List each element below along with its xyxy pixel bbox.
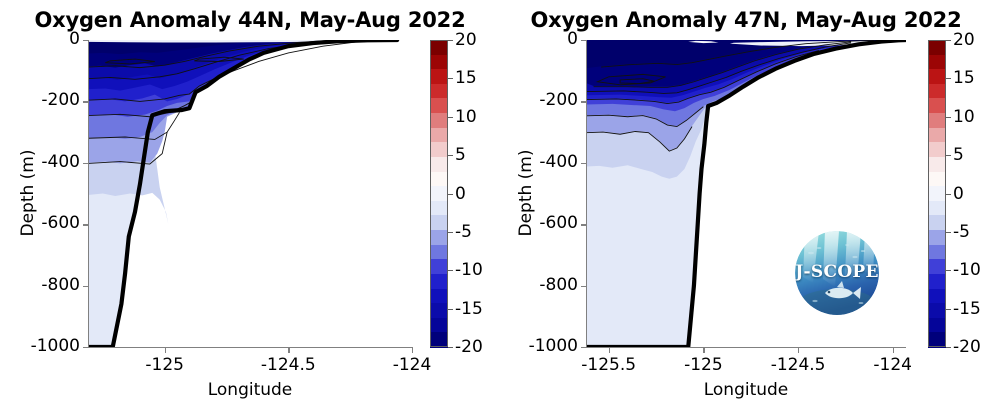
colorbar-frame (928, 40, 946, 347)
colorbar-tick-label: -5 (455, 222, 472, 242)
x-tick (893, 347, 894, 353)
colorbar-tick (448, 347, 453, 348)
x-axis-line (88, 347, 412, 348)
colorbar-tick (946, 270, 951, 271)
y-tick (581, 101, 586, 102)
y-tick (581, 163, 586, 164)
colorbar-tick (448, 78, 453, 79)
y-tick-label: 0 (6, 29, 80, 49)
y-axis-label: Depth (m) (516, 113, 536, 273)
colorbar-tick (946, 194, 951, 195)
panel-47n: Oxygen Anomaly 47N, May-Aug 20220-200-40… (500, 0, 1000, 417)
colorbar-tick-label: 15 (953, 68, 975, 88)
x-tick (165, 347, 166, 353)
contour-plot (88, 40, 412, 347)
x-tick-label: -125 (117, 355, 213, 375)
panel-title: Oxygen Anomaly 44N, May-Aug 2022 (20, 8, 480, 32)
x-tick-label: -125 (655, 355, 751, 375)
x-tick (703, 347, 704, 353)
jscope-logo: J-SCOPE (795, 231, 879, 315)
y-tick (581, 40, 586, 41)
y-tick (581, 347, 586, 348)
colorbar-tick (448, 232, 453, 233)
colorbar-tick-label: 10 (953, 107, 975, 127)
x-tick (412, 347, 413, 353)
x-axis-label: Longitude (586, 380, 906, 400)
colorbar-tick-label: 5 (953, 145, 964, 165)
y-axis-line (586, 40, 587, 347)
colorbar-tick-label: 15 (455, 68, 477, 88)
colorbar-tick-label: -15 (953, 299, 981, 319)
colorbar (928, 40, 946, 347)
y-tick (83, 40, 88, 41)
colorbar-tick (448, 270, 453, 271)
colorbar-tick (448, 117, 453, 118)
colorbar-frame (430, 40, 448, 347)
y-axis-label: Depth (m) (18, 113, 38, 273)
colorbar-tick-label: -20 (953, 337, 981, 357)
y-tick-label: 0 (504, 29, 578, 49)
colorbar-tick-label: -5 (953, 222, 970, 242)
colorbar-tick-label: 20 (455, 30, 477, 50)
y-tick (83, 101, 88, 102)
colorbar-tick-label: 0 (953, 184, 964, 204)
colorbar-tick (448, 40, 453, 41)
colorbar-tick (946, 309, 951, 310)
y-tick-label: -200 (504, 90, 578, 110)
colorbar-tick (448, 309, 453, 310)
colorbar-tick (946, 232, 951, 233)
x-tick-label: -124 (364, 355, 460, 375)
panel-44n: Oxygen Anomaly 44N, May-Aug 20220-200-40… (0, 0, 500, 417)
y-axis-line (88, 40, 89, 347)
colorbar-tick (946, 78, 951, 79)
colorbar-tick-label: 5 (455, 145, 466, 165)
colorbar-tick-label: 0 (455, 184, 466, 204)
y-tick (581, 224, 586, 225)
y-tick-label: -200 (6, 90, 80, 110)
x-axis-label: Longitude (88, 380, 412, 400)
colorbar (430, 40, 448, 347)
jscope-logo-label: J-SCOPE (795, 262, 879, 282)
x-tick (609, 347, 610, 353)
colorbar-tick (448, 194, 453, 195)
x-tick (798, 347, 799, 353)
colorbar-tick (448, 155, 453, 156)
y-tick-label: -1000 (6, 336, 80, 356)
colorbar-tick-label: -15 (455, 299, 483, 319)
colorbar-tick-label: 20 (953, 30, 975, 50)
colorbar-tick (946, 117, 951, 118)
colorbar-tick (946, 40, 951, 41)
y-tick (581, 286, 586, 287)
colorbar-tick-label: -20 (455, 337, 483, 357)
y-tick (83, 286, 88, 287)
y-tick (83, 347, 88, 348)
colorbar-tick-label: 10 (455, 107, 477, 127)
y-tick (83, 224, 88, 225)
x-tick-label: -124.5 (750, 355, 846, 375)
x-tick-label: -124.5 (240, 355, 336, 375)
y-tick-label: -1000 (504, 336, 578, 356)
y-tick (83, 163, 88, 164)
figure-root: Oxygen Anomaly 44N, May-Aug 20220-200-40… (0, 0, 1000, 417)
y-tick-label: -800 (6, 275, 80, 295)
x-axis-line (586, 347, 906, 348)
x-tick-label: -125.5 (561, 355, 657, 375)
y-tick-label: -800 (504, 275, 578, 295)
x-tick-label: -124 (845, 355, 941, 375)
colorbar-tick-label: -10 (455, 260, 483, 280)
panel-title: Oxygen Anomaly 47N, May-Aug 2022 (518, 8, 974, 32)
colorbar-tick (946, 347, 951, 348)
colorbar-tick (946, 155, 951, 156)
x-tick (288, 347, 289, 353)
colorbar-tick-label: -10 (953, 260, 981, 280)
